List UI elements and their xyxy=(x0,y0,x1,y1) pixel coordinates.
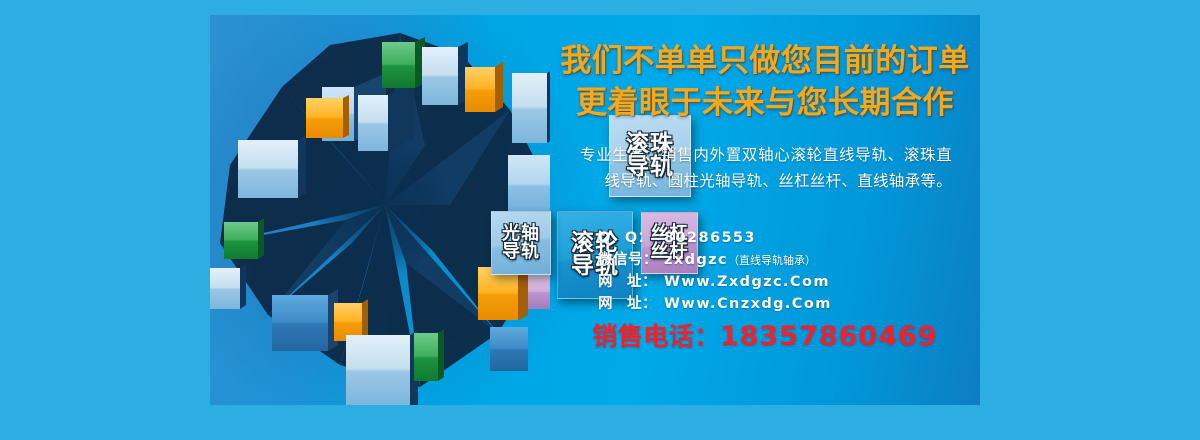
contact-row-wechat: 微信号： zxdgzc （直线导轨轴承） xyxy=(598,249,978,271)
contact-row-website-2: 网址： Www.Cnzxdg.Com xyxy=(598,293,978,315)
promo-banner: 滚珠 导轨 滚轮 导轨 光轴 导轨 丝杠 丝杆 我们不单单只做您目前的订单 更着… xyxy=(210,15,980,405)
cube-label-guangzhou-daogui: 光轴 导轨 xyxy=(491,211,551,275)
website-2-label: 网址： xyxy=(598,293,664,315)
page-root: 滚珠 导轨 滚轮 导轨 光轴 导轨 丝杠 丝杆 我们不单单只做您目前的订单 更着… xyxy=(0,0,1200,440)
sales-phone-label: 销售电话： xyxy=(592,322,720,351)
cube-label-line-2: 导轨 xyxy=(502,243,540,261)
website-1-label: 网址： xyxy=(598,271,664,293)
banner-text-column: 我们不单单只做您目前的订单 更着眼于未来与您长期合作 专业生产、销售内外置双轴心… xyxy=(550,15,980,405)
contact-info-block: QQ： 80286553 微信号： zxdgzc （直线导轨轴承） 网址： Ww… xyxy=(598,227,978,315)
contact-row-website-1: 网址： Www.Zxdgzc.Com xyxy=(598,271,978,293)
wechat-note: （直线导轨轴承） xyxy=(728,253,816,270)
contact-row-qq: QQ： 80286553 xyxy=(598,227,978,249)
website-2-value[interactable]: Www.Cnzxdg.Com xyxy=(664,293,832,315)
website-1-value[interactable]: Www.Zxdgzc.Com xyxy=(664,271,830,293)
headline-line-2: 更着眼于未来与您长期合作 xyxy=(550,83,980,125)
headline-line-1: 我们不单单只做您目前的订单 xyxy=(550,41,980,83)
qq-label: QQ： xyxy=(598,227,664,249)
sales-phone: 销售电话：18357860469 xyxy=(550,317,980,353)
headline: 我们不单单只做您目前的订单 更着眼于未来与您长期合作 xyxy=(550,41,980,124)
cube-explosion-graphic xyxy=(210,15,550,405)
qq-value: 80286553 xyxy=(664,227,756,249)
product-description: 专业生产、销售内外置双轴心滚轮直线导轨、滚珠直线导轨、圆柱光轴导轨、丝杠丝杆、直… xyxy=(580,143,952,194)
sales-phone-number: 18357860469 xyxy=(720,321,938,352)
wechat-value: zxdgzc xyxy=(664,249,728,271)
wechat-label: 微信号： xyxy=(598,249,664,271)
